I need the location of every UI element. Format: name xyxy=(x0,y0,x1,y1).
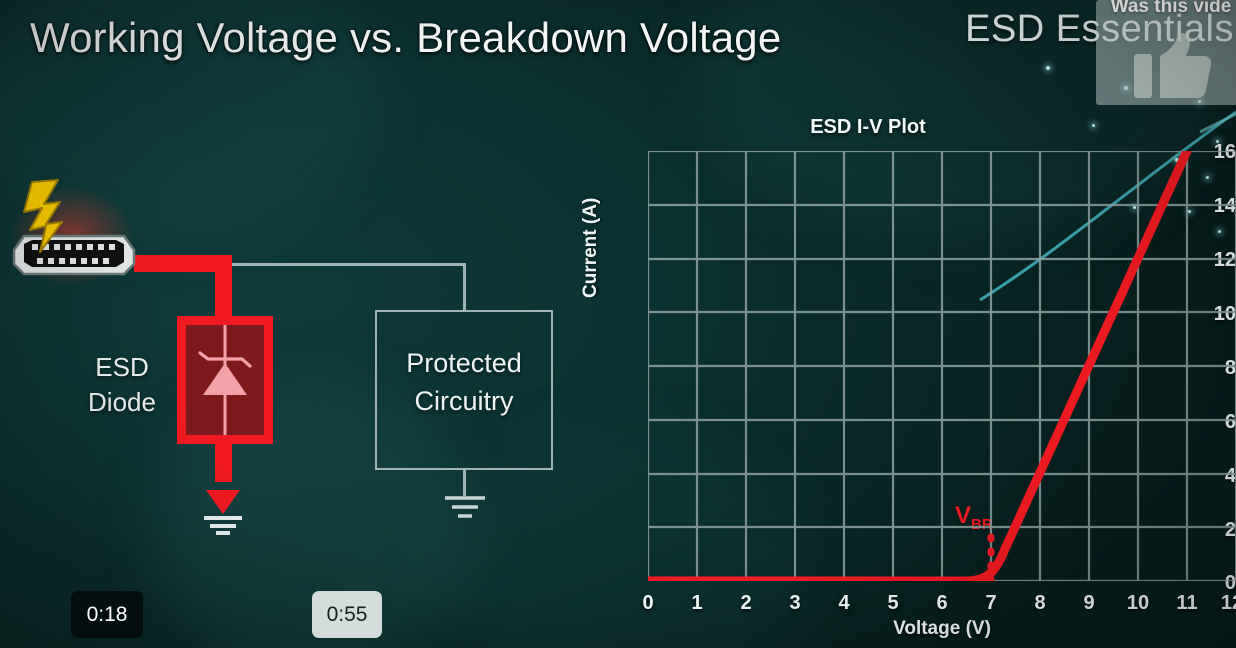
x-tick-label: 7 xyxy=(976,592,1006,615)
ground-icon xyxy=(440,492,490,526)
survey-overlay-card[interactable]: Was this vide xyxy=(1096,0,1236,105)
protected-label-line2: Circuitry xyxy=(375,383,553,421)
signal-wire xyxy=(222,263,466,266)
x-tick-label: 6 xyxy=(927,592,957,615)
x-tick-label: 9 xyxy=(1074,592,1104,615)
signal-wire xyxy=(463,263,466,312)
x-tick-label: 11 xyxy=(1172,592,1202,615)
thumbs-up-icon[interactable] xyxy=(1134,32,1212,98)
circuit-diagram: ESD Diode Protected Circuitry xyxy=(0,170,600,570)
total-time-badge[interactable]: 0:55 xyxy=(312,591,382,638)
x-tick-label: 2 xyxy=(731,592,761,615)
x-tick-label: 8 xyxy=(1025,592,1055,615)
x-tick-label: 0 xyxy=(633,592,663,615)
tvs-zener-diode-symbol xyxy=(186,325,264,435)
survey-prompt: Was this vide xyxy=(1096,0,1236,18)
chart-xlabel: Voltage (V) xyxy=(648,618,1236,640)
esd-iv-chart: ESD I-V Plot Current (A) Voltage (V) 16 … xyxy=(588,110,1236,648)
esd-diode-label-line1: ESD xyxy=(72,350,172,385)
esd-diode-label-line2: Diode xyxy=(72,385,172,420)
esd-diode-label: ESD Diode xyxy=(72,350,172,420)
page-title: Working Voltage vs. Breakdown Voltage xyxy=(30,14,781,62)
grid-lines xyxy=(648,151,1236,581)
x-tick-label: 12 xyxy=(1217,592,1236,615)
hdmi-connector xyxy=(6,174,186,294)
x-tick-label: 1 xyxy=(682,592,712,615)
esd-diode-component xyxy=(177,316,273,444)
slide-canvas: Working Voltage vs. Breakdown Voltage ES… xyxy=(0,0,1236,648)
ground-icon xyxy=(196,470,252,536)
plot-area xyxy=(648,151,1236,581)
chart-ylabel: Current (A) xyxy=(580,198,602,298)
x-tick-label: 3 xyxy=(780,592,810,615)
protected-circuitry-label: Protected Circuitry xyxy=(375,345,553,421)
chart-title: ESD I-V Plot xyxy=(588,116,1148,139)
esd-path-wire xyxy=(215,255,232,325)
sparkle-dot xyxy=(1046,66,1050,70)
current-time-badge[interactable]: 0:18 xyxy=(71,591,143,638)
protected-label-line1: Protected xyxy=(375,345,553,383)
x-tick-label: 5 xyxy=(878,592,908,615)
x-tick-label: 10 xyxy=(1123,592,1153,615)
x-tick-label: 4 xyxy=(829,592,859,615)
